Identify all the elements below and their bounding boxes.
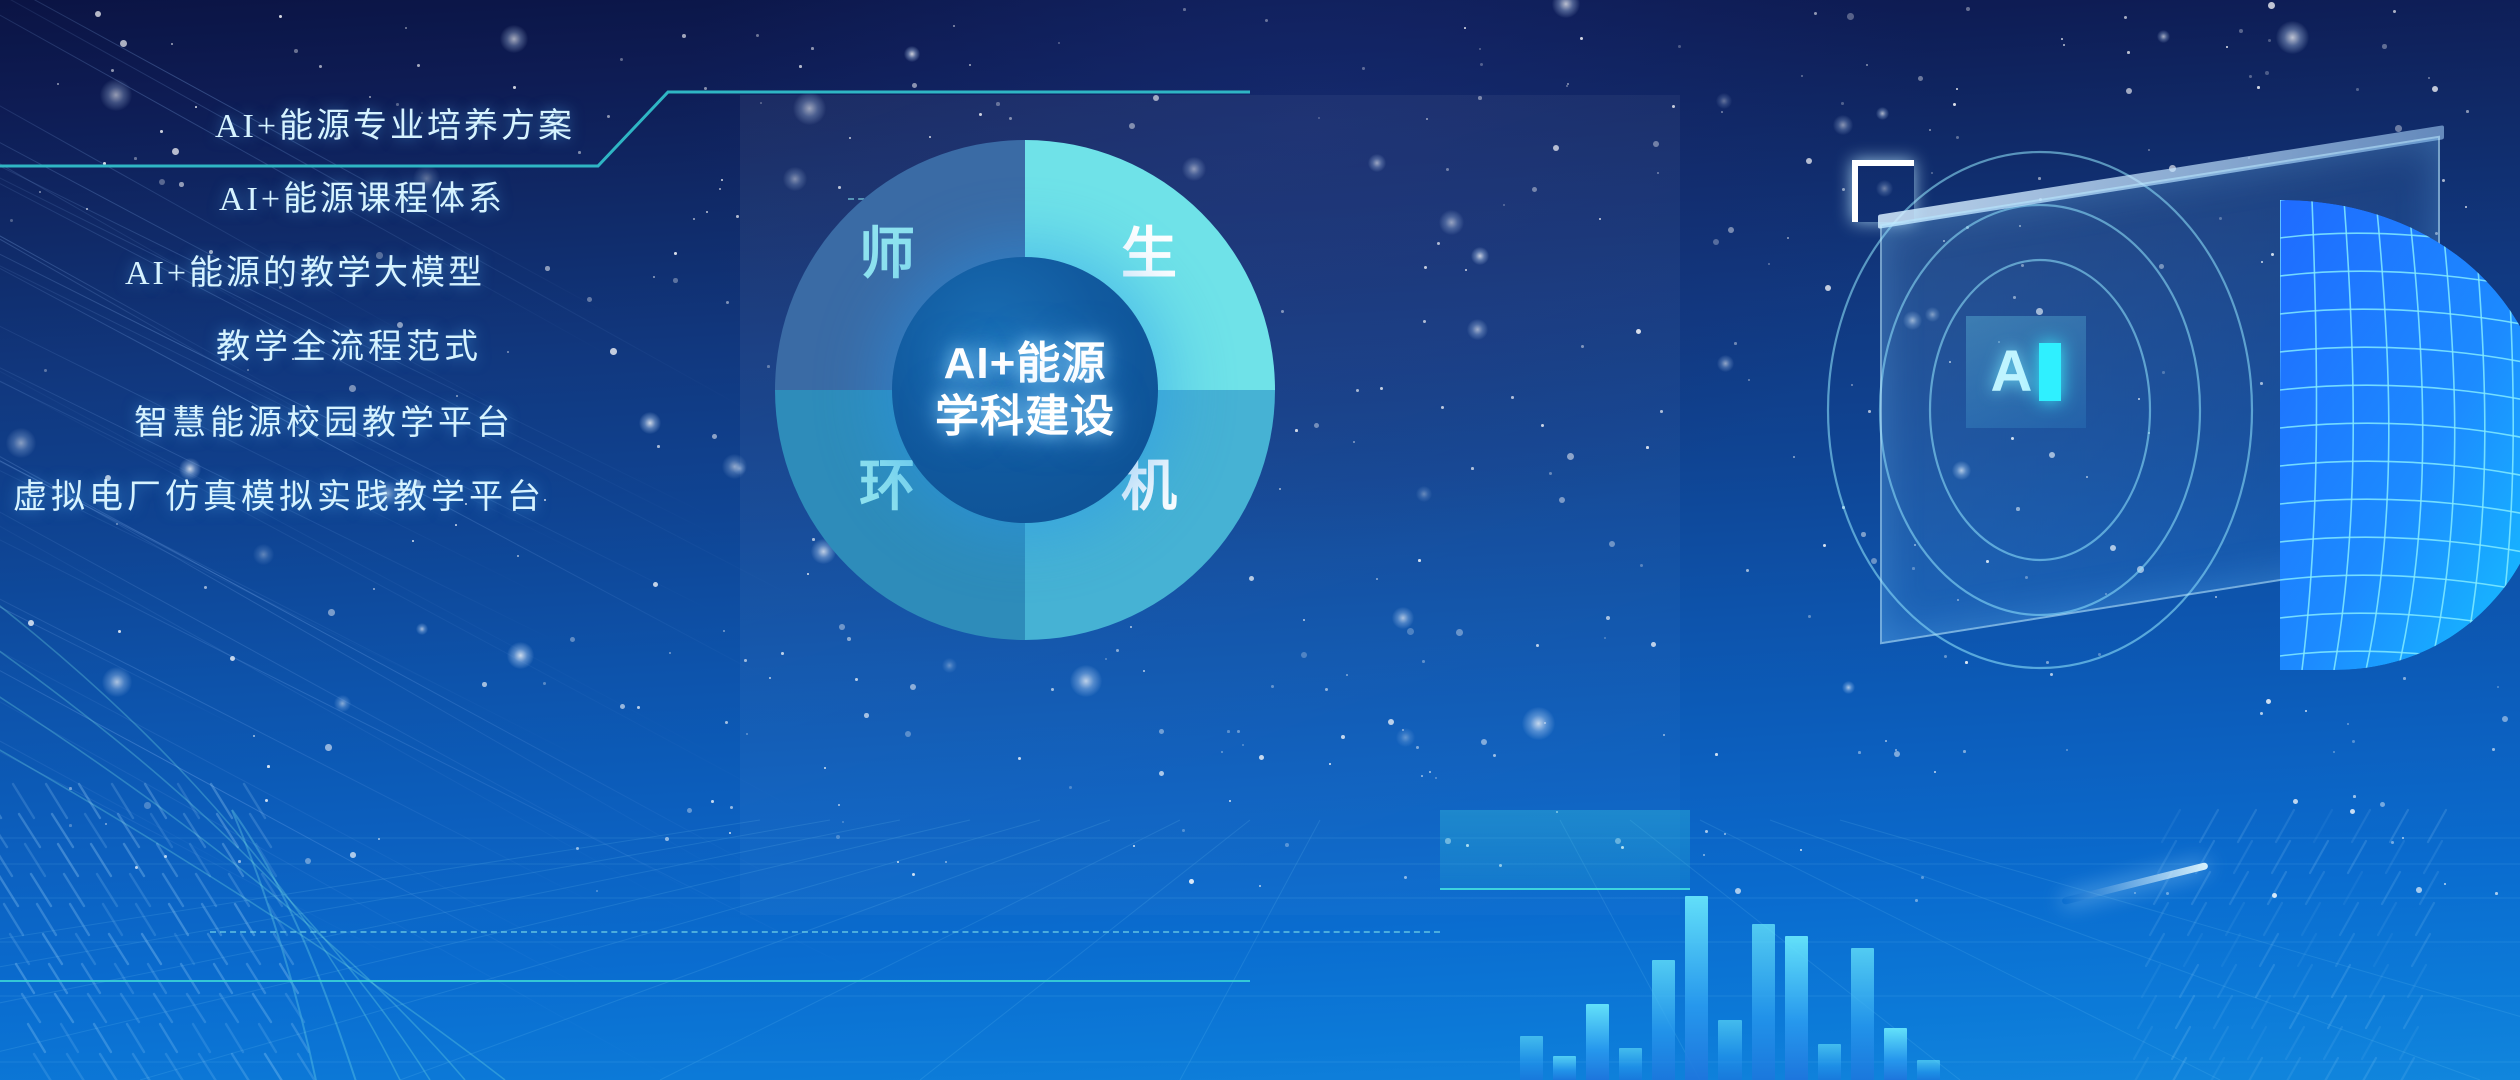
ai-logo-letter: A — [1991, 343, 2033, 401]
aqua-rule-bottom — [0, 980, 1250, 982]
bar-9 — [1818, 1044, 1841, 1080]
ai-visual-module: A — [1700, 20, 2520, 660]
bracket-top-left-icon — [1852, 160, 1914, 222]
bar-4 — [1652, 960, 1675, 1080]
bar-0 — [1520, 1036, 1543, 1080]
bar-6 — [1718, 1020, 1741, 1080]
feature-label-1: AI+能源课程体系 — [219, 183, 505, 217]
feature-label-5: 虚拟电厂仿真模拟实践教学平台 — [13, 480, 545, 514]
bar-2 — [1586, 1004, 1609, 1080]
ai-logo-badge: A — [1966, 316, 2086, 428]
wheel-label-student: 生 — [1121, 226, 1177, 282]
ai-energy-banner: AI+能源专业培养方案 AI+能源课程体系 AI+能源的教学大模型 教学全流程范… — [0, 0, 2520, 1080]
perspective-grid-decoration — [0, 780, 2520, 1080]
comet-streak-decoration — [2061, 862, 2208, 905]
discipline-wheel: 师 生 环 机 AI+能源 学科建设 — [775, 140, 1275, 640]
feather-hatch-decoration-right — [2060, 790, 2520, 1080]
bar-8 — [1785, 936, 1808, 1080]
wireframe-head-graphic — [2130, 200, 2520, 670]
hub-title-line-1: AI+能源 — [944, 339, 1107, 388]
bar-5 — [1685, 896, 1708, 1080]
wheel-label-teacher: 师 — [859, 226, 915, 282]
wheel-label-environment: 环 — [859, 458, 915, 514]
feature-label-2: AI+能源的教学大模型 — [125, 257, 485, 291]
bar-7 — [1752, 924, 1775, 1080]
bar-10 — [1851, 948, 1874, 1080]
ai-logo-bar-icon — [2039, 343, 2061, 401]
bar-1 — [1553, 1056, 1576, 1080]
dashed-guide-bottom — [210, 931, 1440, 933]
bar-12 — [1917, 1060, 1940, 1080]
hub-title-line-2: 学科建设 — [935, 392, 1115, 441]
wheel-hub: AI+能源 学科建设 — [892, 257, 1158, 523]
feature-label-0: AI+能源专业培养方案 — [215, 110, 575, 144]
feature-label-3: 教学全流程范式 — [216, 330, 482, 364]
bar-11 — [1884, 1028, 1907, 1080]
feather-hatch-decoration-left — [0, 770, 590, 1080]
bar-3 — [1619, 1048, 1642, 1080]
feature-label-4: 智慧能源校园教学平台 — [134, 406, 514, 440]
bar-chart-decoration — [1520, 870, 1940, 1080]
